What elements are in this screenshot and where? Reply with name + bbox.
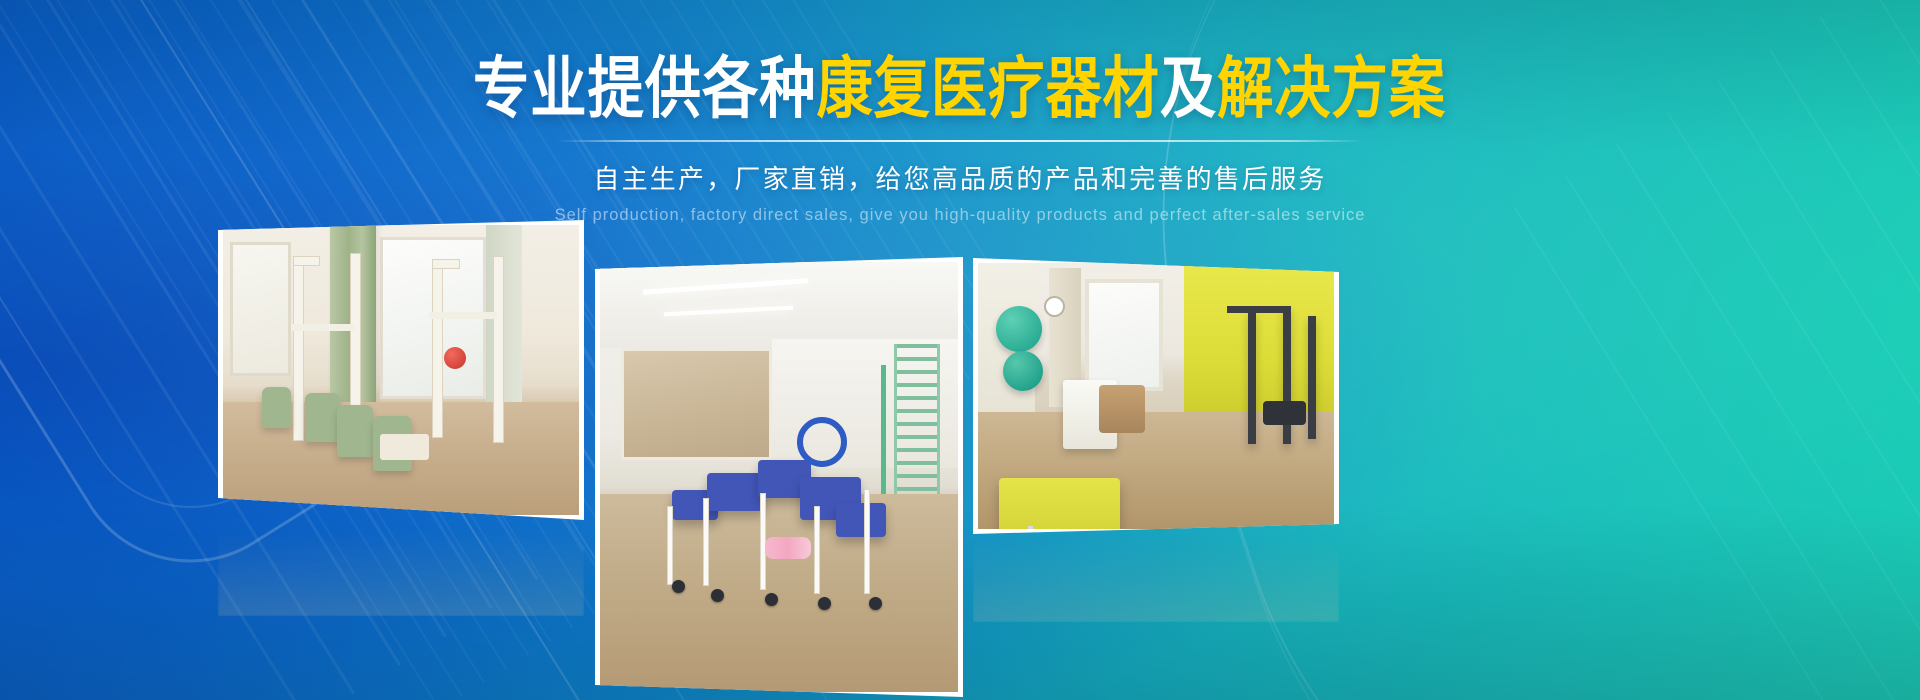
subtitle-chinese: 自主生产，厂家直销，给您高品质的产品和完善的售后服务	[0, 159, 1920, 196]
headline-segment-white-1: 专业提供各种	[474, 51, 817, 126]
photo-gallery	[0, 212, 1920, 682]
headline-segment-yellow-1: 康复医疗器材	[817, 51, 1160, 126]
headline-divider	[557, 140, 1363, 142]
headline-segment-white-2: 及	[1160, 51, 1217, 126]
photo-rehab-room-left	[218, 220, 584, 520]
photo-reflection-right	[973, 536, 1339, 622]
promo-banner: 专业提供各种康复医疗器材及解决方案 自主生产，厂家直销，给您高品质的产品和完善的…	[0, 0, 1920, 700]
headline: 专业提供各种康复医疗器材及解决方案	[474, 56, 1447, 123]
photo-rehab-room-right	[973, 258, 1339, 534]
headline-segment-yellow-2: 解决方案	[1218, 51, 1447, 126]
banner-text-block: 专业提供各种康复医疗器材及解决方案 自主生产，厂家直销，给您高品质的产品和完善的…	[0, 56, 1920, 225]
photo-reflection-left	[218, 530, 584, 616]
subtitle-english: Self production, factory direct sales, g…	[0, 206, 1920, 225]
photo-rehab-room-center	[595, 257, 963, 697]
